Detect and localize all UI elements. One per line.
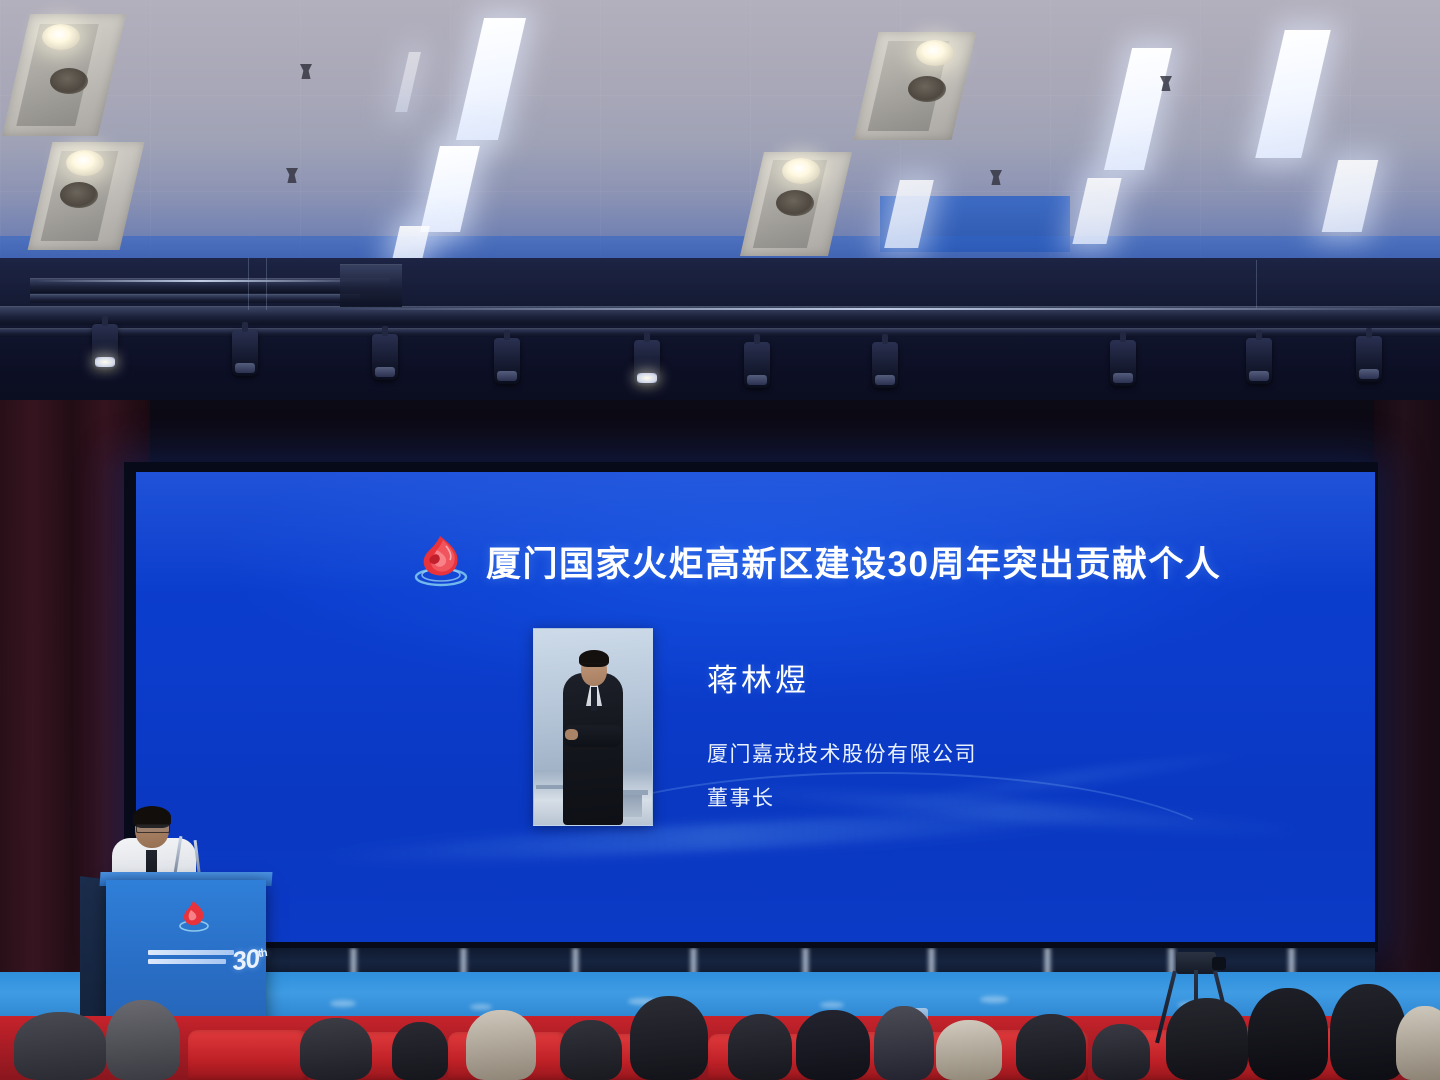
rigging-cable [1256, 260, 1257, 308]
audience-head [728, 1014, 792, 1080]
stage-spotlight-icon [744, 342, 770, 388]
floor-specular-highlight [820, 1002, 844, 1008]
spotlight-lens [1249, 371, 1269, 381]
stage-spotlight-icon [1246, 338, 1272, 384]
ceiling [0, 0, 1440, 300]
audience-head [1166, 998, 1248, 1080]
spotlight-lens [95, 357, 115, 367]
rigging-cable [248, 258, 249, 310]
stage-spotlight-icon [872, 342, 898, 388]
ceiling-downlight-icon [66, 150, 104, 176]
stage-spotlight-icon [1356, 336, 1382, 382]
podium-caption-line [148, 959, 226, 964]
audience-head [1396, 1006, 1440, 1080]
spotlight-lens [375, 367, 395, 377]
ceiling-downlight-icon [50, 68, 88, 94]
led-screen: 厦门国家火炬高新区建设30周年突出贡献个人 [136, 472, 1375, 942]
spotlight-lens [747, 375, 767, 385]
audience-head [796, 1010, 870, 1080]
glasses-icon [581, 663, 607, 669]
ceiling-downlight-icon [782, 158, 820, 184]
stage-spotlight-icon [1110, 340, 1136, 386]
rigging-cable [266, 258, 267, 310]
stage-spotlight-icon [232, 330, 258, 376]
stage-curtain-right [1374, 400, 1440, 1000]
ceiling-downlight-icon [908, 76, 946, 102]
audience-head [1248, 988, 1328, 1080]
honoree-portrait-photo [533, 628, 653, 826]
anniversary-number: 30 [230, 943, 261, 976]
slide-title-text: 厦门国家火炬高新区建设30周年突出贡献个人 [486, 536, 1221, 587]
spotlight-lens [1113, 373, 1133, 383]
portrait-tie [591, 687, 597, 711]
floor-specular-highlight [980, 996, 1008, 1003]
spotlight-lens [497, 371, 517, 381]
audience-head [874, 1006, 934, 1080]
stage-spotlight-icon [494, 338, 520, 384]
torch-flame-icon [176, 898, 212, 934]
ceiling-downlight-icon [42, 24, 80, 50]
honoree-role: 董事长 [707, 782, 775, 812]
truss-beam [0, 328, 1440, 337]
audience-head [106, 1000, 180, 1080]
truss-highlight [330, 308, 1430, 310]
spotlight-lens [1359, 369, 1379, 379]
ceiling-downlight-icon [916, 40, 954, 66]
podium-anniversary-mark: 30th [230, 942, 269, 978]
portrait-hand [565, 729, 578, 740]
ceiling-downlight-icon [776, 190, 814, 216]
podium-caption [148, 950, 234, 968]
stage-spotlight-icon [92, 324, 118, 370]
audience-head [14, 1012, 106, 1080]
truss-highlight [36, 280, 366, 282]
stage-spotlight-icon [634, 340, 660, 386]
auditorium-stage-photo: 厦门国家火炬高新区建设30周年突出贡献个人 蒋林煜 厦门嘉戎技术股份有限公司 董… [0, 0, 1440, 1080]
audience-head [936, 1020, 1002, 1080]
floor-specular-highlight [470, 1004, 492, 1010]
spotlight-lens [235, 363, 255, 373]
audience-head [300, 1018, 372, 1080]
stage-spotlight-icon [372, 334, 398, 380]
slide-title-row: 厦门国家火炬高新区建设30周年突出贡献个人 [410, 530, 1230, 592]
glasses-icon [136, 824, 170, 833]
podium-caption-line [148, 950, 234, 955]
anniversary-suffix: th [257, 947, 267, 960]
audience-head [1016, 1014, 1086, 1080]
audience-head [1092, 1024, 1150, 1080]
floor-specular-highlight [330, 1000, 356, 1007]
spotlight-lens [637, 373, 657, 383]
torch-flame-icon [410, 530, 472, 592]
audience-head [560, 1020, 622, 1080]
truss-beam [30, 294, 360, 303]
honoree-name: 蒋林煜 [707, 655, 809, 700]
truss-equipment-box [340, 264, 402, 307]
ceiling-downlight-icon [60, 182, 98, 208]
audience-seat [188, 1030, 308, 1080]
spotlight-lens [875, 375, 895, 385]
audience-head [1330, 984, 1406, 1080]
audience-head [392, 1022, 448, 1080]
camera-lens [1212, 957, 1226, 970]
honoree-company: 厦门嘉戎技术股份有限公司 [707, 738, 977, 768]
audience-head [630, 996, 708, 1080]
audience-head [466, 1010, 536, 1080]
